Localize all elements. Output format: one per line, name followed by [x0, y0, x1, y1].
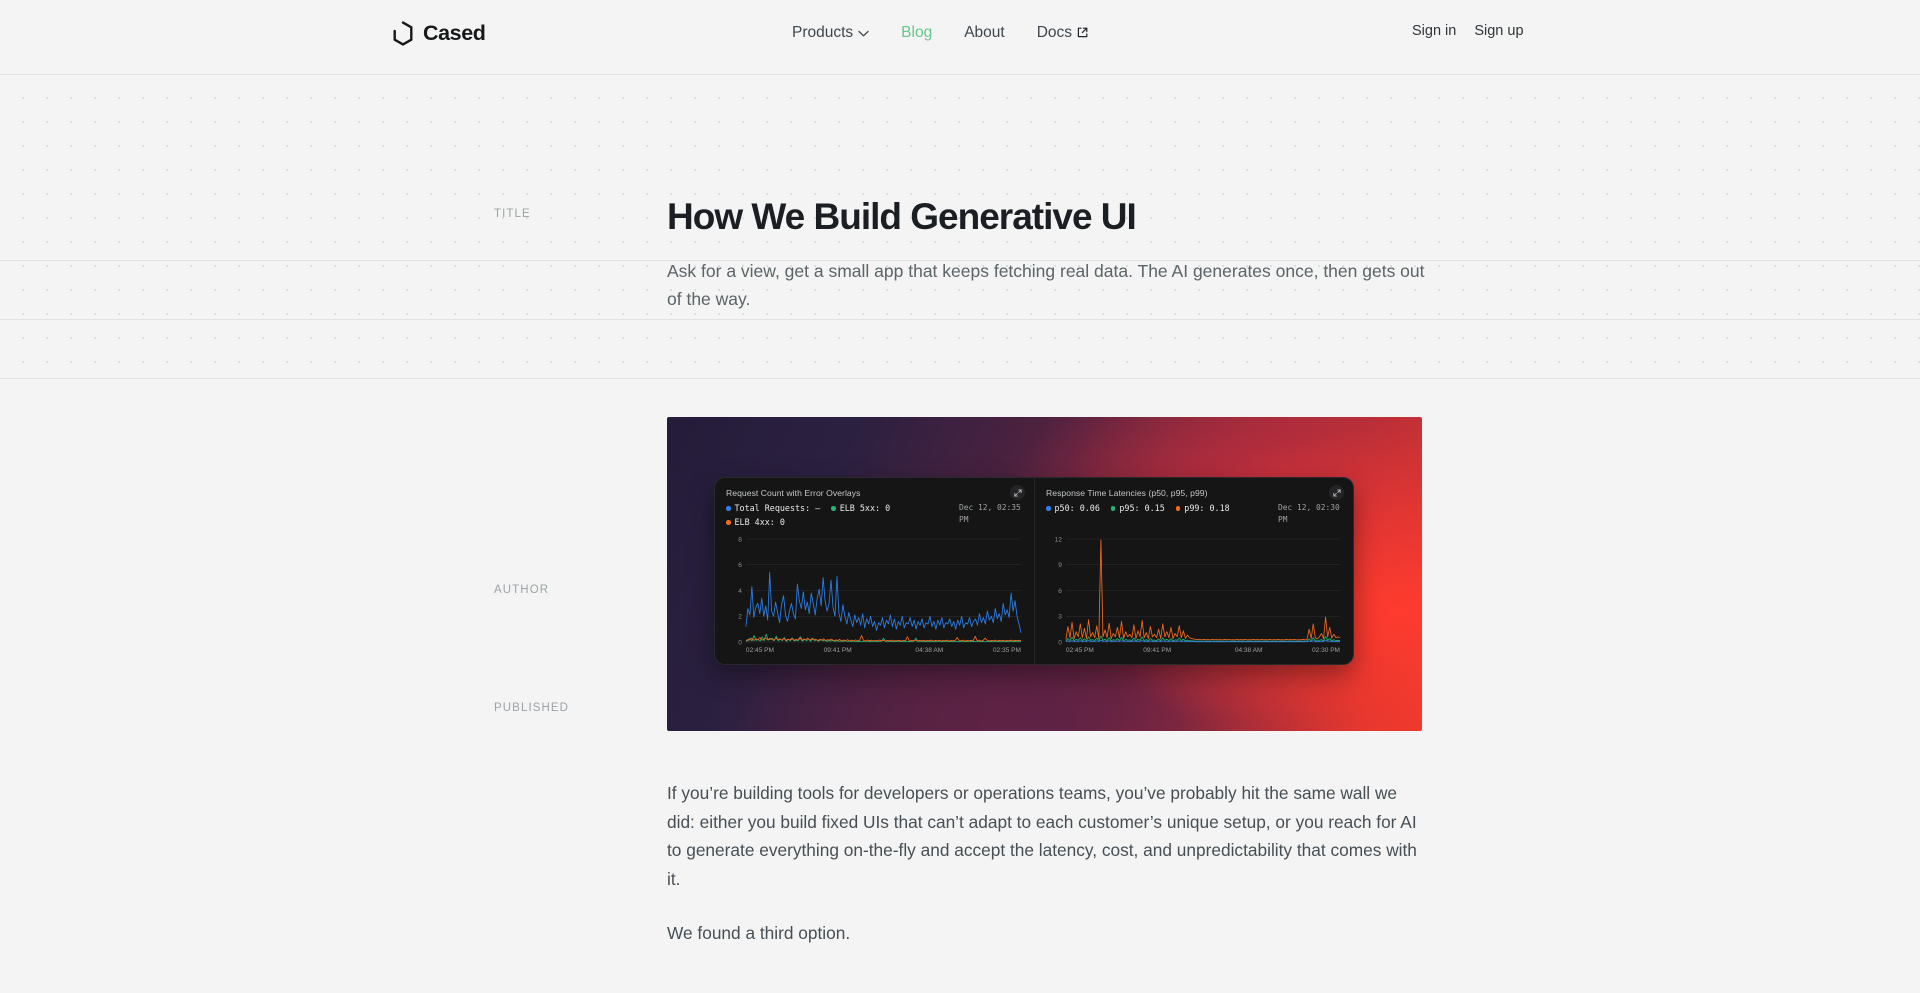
chart-timestamp-response-latency: Dec 12, 02:30 PM — [1278, 502, 1342, 526]
legend-swatch-blue — [1046, 506, 1051, 511]
svg-text:3: 3 — [1058, 614, 1062, 621]
legend-text: p99: 0.18 — [1184, 502, 1229, 515]
legend-item[interactable]: Total Requests: — — [726, 502, 820, 515]
brand-home-link[interactable]: Cased — [392, 21, 486, 46]
svg-text:09:41 PM: 09:41 PM — [824, 647, 852, 654]
external-link-icon — [1077, 27, 1088, 40]
nav-item-docs-label: Docs — [1037, 23, 1072, 43]
primary-nav: Products Blog About Docs — [792, 23, 1088, 43]
legend-swatch-blue — [726, 506, 731, 511]
chart-card-request-count: Request Count with Error Overlays Total … — [715, 478, 1034, 664]
brand-name: Cased — [423, 21, 486, 46]
svg-text:6: 6 — [1058, 588, 1062, 595]
svg-text:09:41 PM: 09:41 PM — [1143, 647, 1171, 654]
hero-image: Request Count with Error Overlays Total … — [667, 417, 1422, 731]
svg-text:8: 8 — [738, 536, 742, 543]
svg-text:02:45 PM: 02:45 PM — [746, 647, 774, 654]
chart-title-response-latency: Response Time Latencies (p50, p95, p99) — [1046, 487, 1342, 499]
chevron-down-icon — [858, 30, 869, 37]
nav-item-docs[interactable]: Docs — [1037, 23, 1088, 43]
page-title: How We Build Generative UI — [667, 196, 1447, 237]
expand-diagonal-icon[interactable] — [1329, 485, 1344, 500]
legend-item[interactable]: ELB 5xx: 0 — [831, 502, 890, 515]
meta-row-title: TITLE How We Build Generative UI Ask for… — [0, 75, 1920, 261]
legend-item[interactable]: p99: 0.18 — [1176, 502, 1230, 515]
svg-text:4: 4 — [738, 588, 742, 595]
nav-item-products[interactable]: Products — [792, 23, 869, 43]
nav-item-products-label: Products — [792, 23, 853, 43]
meta-label-title: TITLE — [494, 208, 531, 220]
legend-swatch-green — [831, 506, 836, 511]
svg-text:0: 0 — [738, 639, 742, 646]
paragraph: If you’re building tools for developers … — [667, 779, 1422, 894]
site-header: Cased Products Blog About Docs — [0, 0, 1920, 75]
legend-text: ELB 4xx: 0 — [735, 516, 785, 529]
chart-title-request-count: Request Count with Error Overlays — [726, 487, 1023, 499]
legend-swatch-orange — [1176, 506, 1181, 511]
svg-text:12: 12 — [1055, 536, 1063, 543]
chart-plot-request-count: 0246802:45 PM09:41 PM04:38 AM02:35 PM — [726, 535, 1025, 655]
dashboard-panel: Request Count with Error Overlays Total … — [714, 477, 1354, 665]
article-meta-section: TITLE How We Build Generative UI Ask for… — [0, 75, 1920, 379]
legend-item[interactable]: ELB 4xx: 0 — [726, 516, 785, 529]
chart-card-response-latency: Response Time Latencies (p50, p95, p99) … — [1034, 478, 1353, 664]
svg-text:02:45 PM: 02:45 PM — [1066, 647, 1094, 654]
legend-swatch-orange — [726, 520, 731, 525]
nav-item-about[interactable]: About — [964, 23, 1005, 43]
legend-item[interactable]: p95: 0.15 — [1111, 502, 1165, 515]
svg-text:04:38 AM: 04:38 AM — [1235, 647, 1263, 654]
svg-text:0: 0 — [1058, 639, 1062, 646]
legend-swatch-green — [1111, 506, 1116, 511]
expand-diagonal-icon[interactable] — [1010, 485, 1025, 500]
svg-text:9: 9 — [1058, 562, 1062, 569]
svg-text:6: 6 — [738, 562, 742, 569]
legend-text: Total Requests: — — [735, 502, 821, 515]
sign-in-link[interactable]: Sign in — [1412, 23, 1456, 39]
chart-legend-response-latency: p50: 0.06 p95: 0.15 p99: 0.18 Dec 12, 02… — [1046, 502, 1342, 526]
legend-text: ELB 5xx: 0 — [840, 502, 890, 515]
svg-text:04:38 AM: 04:38 AM — [915, 647, 943, 654]
svg-text:02:35 PM: 02:35 PM — [993, 647, 1021, 654]
meta-row-author: AUTHOR Tomás González — [0, 261, 1920, 320]
legend-text: p95: 0.15 — [1119, 502, 1164, 515]
meta-row-published: PUBLISHED Dec 15, 2025 — [0, 320, 1920, 379]
article-paragraphs: If you’re building tools for developers … — [667, 779, 1422, 948]
sign-up-link[interactable]: Sign up — [1474, 23, 1523, 39]
chart-timestamp-request-count: Dec 12, 02:35 PM — [959, 502, 1023, 526]
legend-text: p50: 0.06 — [1055, 502, 1100, 515]
nav-item-blog-label: Blog — [901, 23, 932, 43]
svg-text:02:30 PM: 02:30 PM — [1312, 647, 1340, 654]
legend-item[interactable]: p50: 0.06 — [1046, 502, 1100, 515]
hexagon-logo-icon — [392, 21, 414, 46]
svg-text:2: 2 — [738, 614, 742, 621]
nav-item-blog[interactable]: Blog — [901, 23, 932, 43]
nav-item-about-label: About — [964, 23, 1005, 43]
chart-plot-response-latency: 03691202:45 PM09:41 PM04:38 AM02:30 PM — [1046, 535, 1344, 655]
auth-nav: Sign in Sign up — [1412, 23, 1524, 39]
article-body-section: Request Count with Error Overlays Total … — [0, 379, 1920, 993]
chart-legend-request-count: Total Requests: — ELB 5xx: 0 ELB 4xx: 0 … — [726, 502, 1023, 529]
paragraph: We found a third option. — [667, 919, 1422, 948]
